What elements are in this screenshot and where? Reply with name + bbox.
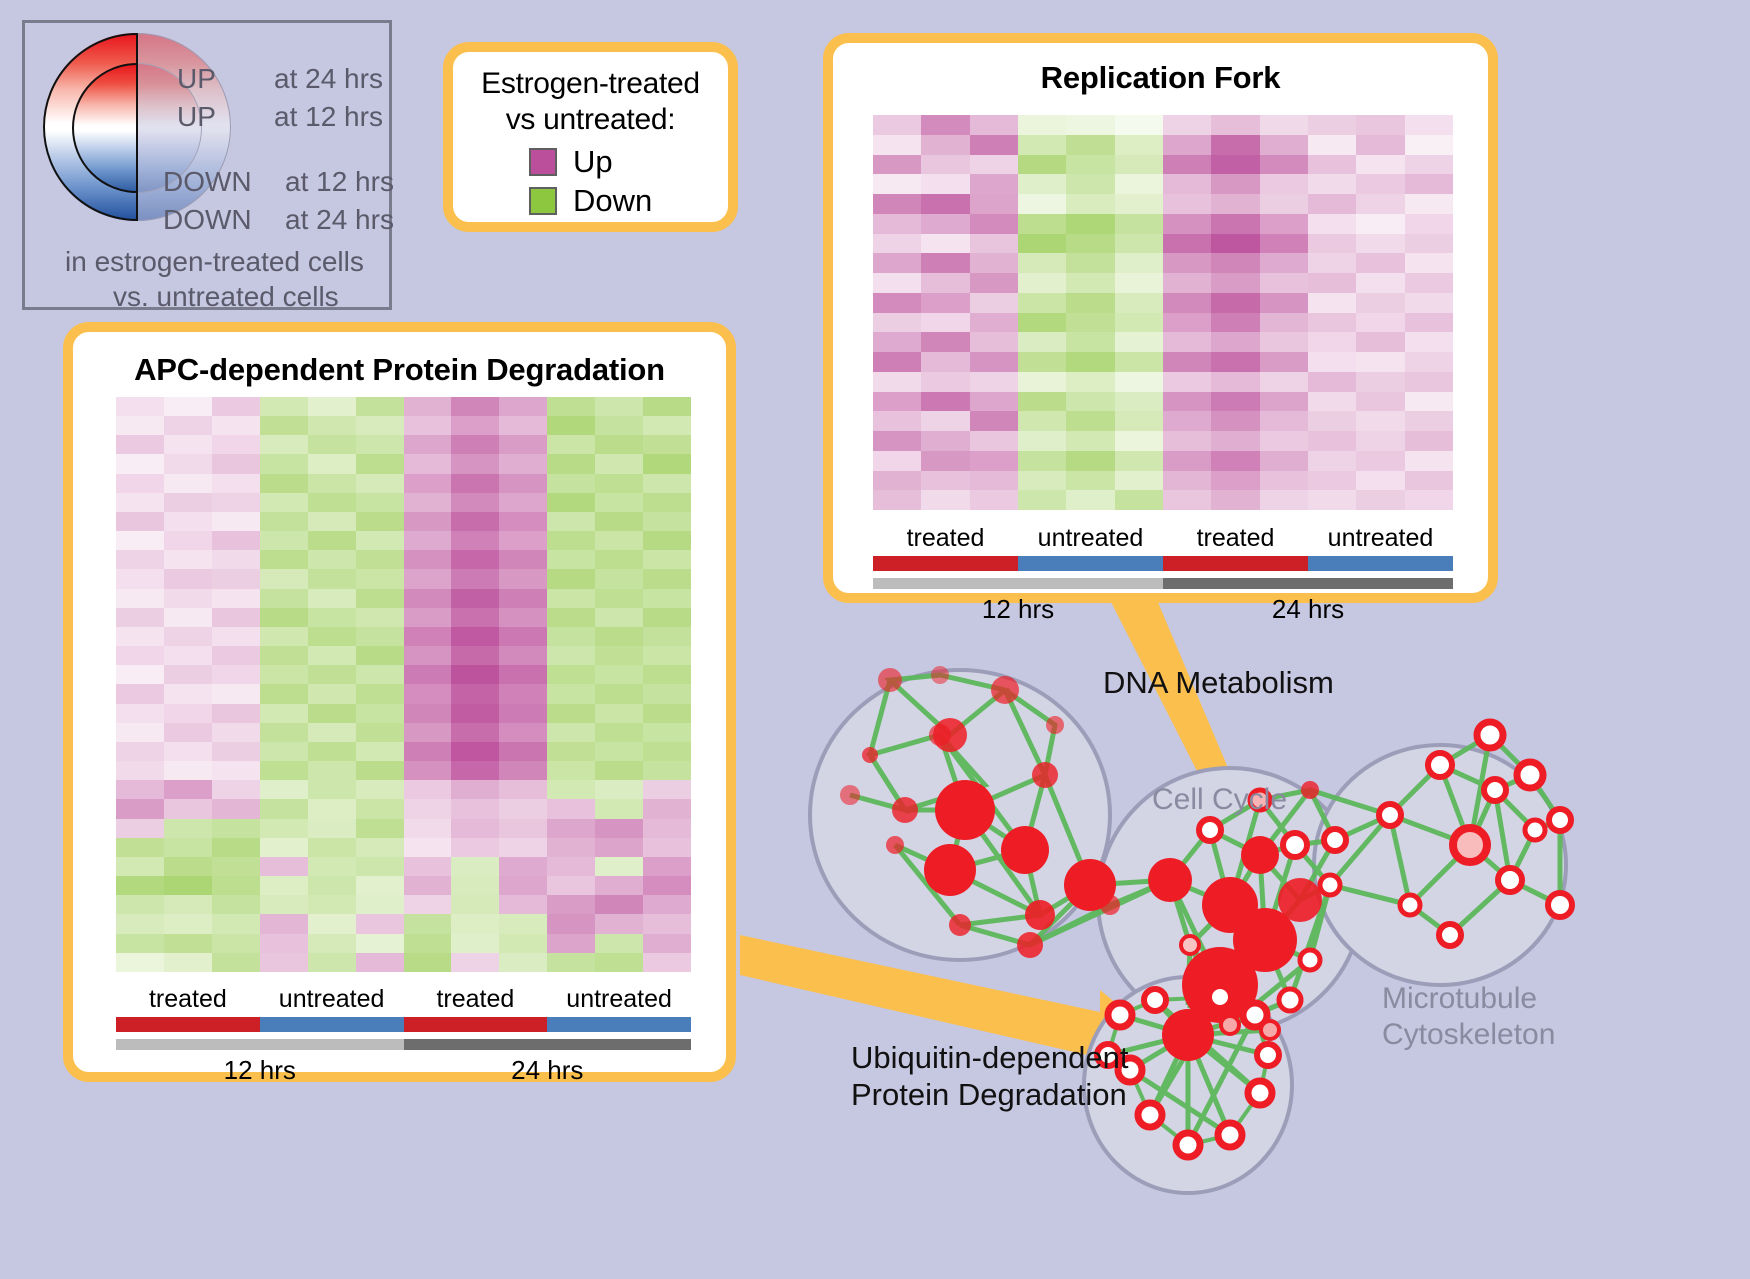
heatmap-cell [921, 332, 969, 352]
heatmap-cell [356, 838, 404, 857]
network-node [949, 914, 971, 936]
heatmap-cell [1260, 214, 1308, 234]
heatmap-cell [1260, 471, 1308, 491]
heatmap-cell [404, 742, 452, 761]
heatmap-cell [308, 416, 356, 435]
network-node [1324, 829, 1346, 851]
heatmap-cell [1163, 411, 1211, 431]
heatmap-cell [212, 627, 260, 646]
heatmap-cell [1308, 332, 1356, 352]
ring-time-down-24: at 24 hrs [285, 206, 394, 234]
heatmap-cell [1211, 234, 1259, 254]
heatmap-cell [260, 934, 308, 953]
heatmap-cell [643, 914, 691, 933]
heatmap-cell [547, 723, 595, 742]
network-node [1199, 819, 1221, 841]
ring-time-down-12: at 12 hrs [285, 168, 394, 196]
heatmap-cell [404, 493, 452, 512]
heatmap-cell [499, 857, 547, 876]
heatmap-cell [116, 665, 164, 684]
heatmap-cell [643, 876, 691, 895]
heatmap-cell [1115, 234, 1163, 254]
heatmap-cell [547, 608, 595, 627]
heatmap-cell [873, 174, 921, 194]
apc-degradation-title: APC-dependent Protein Degradation [73, 332, 726, 388]
heatmap-cell [1356, 332, 1404, 352]
heatmap-cell [404, 665, 452, 684]
network-node [1379, 804, 1401, 826]
network-node [931, 666, 949, 684]
heatmap-cell [970, 234, 1018, 254]
heatmap-cell [164, 493, 212, 512]
updown-legend-title: Estrogen-treated vs untreated: [453, 52, 728, 138]
heatmap-cell [873, 214, 921, 234]
heatmap-cell [356, 704, 404, 723]
heatmap-cell [499, 761, 547, 780]
heatmap-cell [404, 876, 452, 895]
heatmap-cell [643, 704, 691, 723]
heatmap-cell [595, 627, 643, 646]
heatmap-cell [404, 761, 452, 780]
legend-item-down: Down [529, 185, 728, 216]
heatmap-cell [595, 569, 643, 588]
heatmap-cell [1211, 115, 1259, 135]
heatmap-cell [547, 416, 595, 435]
heatmap-cell [1211, 253, 1259, 273]
heatmap-cell [164, 569, 212, 588]
heatmap-cell [970, 332, 1018, 352]
heatmap-cell [643, 838, 691, 857]
heatmap-cell [260, 493, 308, 512]
heatmap-cell [164, 914, 212, 933]
apc-condition-labels: treated untreated treated untreated [116, 984, 691, 1014]
heatmap-cell [1066, 352, 1114, 372]
heatmap-cell [643, 531, 691, 550]
heatmap-cell [921, 490, 969, 510]
heatmap-cell [356, 934, 404, 953]
heatmap-cell [643, 780, 691, 799]
condition-label: untreated [1308, 523, 1453, 553]
heatmap-cell [595, 934, 643, 953]
heatmap-cell [212, 512, 260, 531]
heatmap-cell [1405, 451, 1453, 471]
heatmap-cell [595, 780, 643, 799]
heatmap-cell [643, 684, 691, 703]
heatmap-cell [260, 569, 308, 588]
heatmap-cell [308, 914, 356, 933]
heatmap-cell [404, 953, 452, 972]
heatmap-cell [643, 934, 691, 953]
heatmap-cell [499, 550, 547, 569]
heatmap-cell [356, 589, 404, 608]
heatmap-cell [1356, 293, 1404, 313]
heatmap-cell [164, 608, 212, 627]
condition-label: treated [404, 984, 548, 1014]
up-color-swatch [529, 148, 557, 176]
heatmap-cell [595, 895, 643, 914]
heatmap-cell [499, 876, 547, 895]
network-node [1439, 924, 1461, 946]
heatmap-cell [499, 454, 547, 473]
heatmap-cell [1163, 174, 1211, 194]
heatmap-cell [547, 704, 595, 723]
heatmap-cell [1308, 352, 1356, 372]
heatmap-cell [1018, 411, 1066, 431]
cluster-label-protein-degradation: Protein Degradation [851, 1077, 1127, 1113]
heatmap-cell [260, 819, 308, 838]
heatmap-cell [1018, 293, 1066, 313]
apc-condition-bar [116, 1017, 691, 1032]
heatmap-cell [1163, 352, 1211, 372]
heatmap-cell [116, 512, 164, 531]
heatmap-cell [1260, 194, 1308, 214]
heatmap-cell [1260, 115, 1308, 135]
heatmap-cell [1115, 332, 1163, 352]
heatmap-cell [164, 819, 212, 838]
heatmap-cell [1066, 174, 1114, 194]
heatmap-cell [356, 416, 404, 435]
heatmap-cell [451, 589, 499, 608]
heatmap-cell [499, 914, 547, 933]
heatmap-cell [260, 876, 308, 895]
heatmap-cell [116, 723, 164, 742]
heatmap-cell [356, 474, 404, 493]
heatmap-cell [260, 665, 308, 684]
heatmap-cell [1211, 431, 1259, 451]
heatmap-cell [595, 493, 643, 512]
network-node [1301, 781, 1319, 799]
heatmap-cell [260, 608, 308, 627]
heatmap-cell [873, 115, 921, 135]
heatmap-cell [873, 293, 921, 313]
heatmap-cell [873, 234, 921, 254]
heatmap-cell [356, 799, 404, 818]
heatmap-cell [212, 914, 260, 933]
heatmap-cell [499, 895, 547, 914]
heatmap-cell [451, 493, 499, 512]
down-color-swatch [529, 187, 557, 215]
condition-bar-segment [404, 1017, 548, 1032]
heatmap-cell [212, 838, 260, 857]
heatmap-cell [1211, 135, 1259, 155]
heatmap-cell [643, 799, 691, 818]
heatmap-cell [164, 531, 212, 550]
heatmap-cell [404, 627, 452, 646]
network-node [1320, 875, 1340, 895]
heatmap-cell [1260, 273, 1308, 293]
heatmap-cell [921, 194, 969, 214]
network-node [1025, 900, 1055, 930]
heatmap-cell [1018, 214, 1066, 234]
heatmap-cell [547, 397, 595, 416]
heatmap-cell [921, 392, 969, 412]
heatmap-cell [451, 876, 499, 895]
heatmap-cell [451, 704, 499, 723]
heatmap-cell [921, 372, 969, 392]
heatmap-cell [1066, 471, 1114, 491]
heatmap-cell [547, 838, 595, 857]
heatmap-cell [547, 799, 595, 818]
condition-label: untreated [1018, 523, 1163, 553]
heatmap-cell [873, 352, 921, 372]
heatmap-cell [451, 857, 499, 876]
heatmap-cell [873, 253, 921, 273]
heatmap-cell [1115, 451, 1163, 471]
heatmap-cell [116, 531, 164, 550]
heatmap-cell [643, 665, 691, 684]
heatmap-cell [499, 838, 547, 857]
heatmap-cell [404, 646, 452, 665]
heatmap-cell [212, 761, 260, 780]
heatmap-cell [643, 512, 691, 531]
heatmap-cell [404, 435, 452, 454]
network-node [1484, 779, 1506, 801]
heatmap-cell [595, 723, 643, 742]
time-bar-segment [116, 1039, 404, 1050]
heatmap-cell [308, 684, 356, 703]
network-node [1453, 828, 1487, 862]
heatmap-cell [116, 914, 164, 933]
heatmap-cell [547, 512, 595, 531]
heatmap-cell [1018, 451, 1066, 471]
heatmap-cell [356, 895, 404, 914]
heatmap-cell [595, 799, 643, 818]
heatmap-cell [595, 857, 643, 876]
heatmap-cell [1260, 411, 1308, 431]
heatmap-cell [1211, 411, 1259, 431]
ring-label-down-12: DOWN [163, 168, 252, 196]
network-node [1032, 762, 1058, 788]
heatmap-cell [308, 819, 356, 838]
heatmap-cell [260, 550, 308, 569]
condition-label: treated [116, 984, 260, 1014]
condition-label: treated [1163, 523, 1308, 553]
heatmap-cell [260, 742, 308, 761]
heatmap-cell [164, 474, 212, 493]
updown-legend-card: Estrogen-treated vs untreated: Up Down [443, 42, 738, 232]
heatmap-cell [212, 493, 260, 512]
heatmap-cell [595, 704, 643, 723]
network-node [1477, 722, 1503, 748]
heatmap-cell [451, 627, 499, 646]
heatmap-cell [921, 293, 969, 313]
heatmap-cell [404, 397, 452, 416]
heatmap-cell [356, 742, 404, 761]
heatmap-cell [1405, 234, 1453, 254]
heatmap-cell [499, 646, 547, 665]
heatmap-cell [1260, 372, 1308, 392]
condition-bar-segment [1018, 556, 1163, 571]
heatmap-cell [595, 953, 643, 972]
heatmap-cell [116, 895, 164, 914]
heatmap-cell [547, 895, 595, 914]
heatmap-cell [212, 953, 260, 972]
heatmap-cell [1115, 135, 1163, 155]
heatmap-cell [873, 471, 921, 491]
heatmap-cell [1018, 115, 1066, 135]
heatmap-cell [308, 953, 356, 972]
heatmap-cell [356, 819, 404, 838]
heatmap-cell [1211, 155, 1259, 175]
heatmap-cell [164, 704, 212, 723]
heatmap-cell [643, 857, 691, 876]
heatmap-cell [356, 646, 404, 665]
heatmap-cell [404, 512, 452, 531]
heatmap-cell [1115, 273, 1163, 293]
updown-title-line-1: Estrogen-treated [453, 66, 728, 102]
cluster-label-cytoskeleton: Cytoskeleton [1382, 1018, 1555, 1052]
heatmap-cell [164, 742, 212, 761]
heatmap-cell [308, 934, 356, 953]
heatmap-cell [451, 819, 499, 838]
heatmap-cell [404, 550, 452, 569]
cluster-label-ubiquitin-dependent: Ubiquitin-dependent [851, 1040, 1129, 1076]
network-node [1209, 986, 1231, 1008]
heatmap-cell [547, 550, 595, 569]
heatmap-cell [1308, 174, 1356, 194]
heatmap-cell [116, 953, 164, 972]
heatmap-cell [164, 646, 212, 665]
heatmap-cell [499, 780, 547, 799]
heatmap-cell [643, 742, 691, 761]
heatmap-cell [1356, 313, 1404, 333]
network-node [1525, 820, 1545, 840]
heatmap-cell [1308, 411, 1356, 431]
heatmap-cell [595, 742, 643, 761]
heatmap-cell [1066, 214, 1114, 234]
apc-degradation-axis: treated untreated treated untreated 12 h… [116, 984, 691, 1086]
heatmap-cell [1018, 135, 1066, 155]
heatmap-cell [1018, 174, 1066, 194]
heatmap-cell [356, 512, 404, 531]
heatmap-cell [260, 838, 308, 857]
network-node [1261, 1021, 1279, 1039]
heatmap-cell [1211, 194, 1259, 214]
heatmap-cell [308, 550, 356, 569]
heatmap-cell [1405, 174, 1453, 194]
network-node [1148, 858, 1192, 902]
down-label: Down [573, 185, 652, 216]
heatmap-cell [1211, 451, 1259, 471]
heatmap-cell [1356, 431, 1404, 451]
heatmap-cell [1115, 115, 1163, 135]
heatmap-cell [356, 761, 404, 780]
heatmap-cell [499, 819, 547, 838]
heatmap-cell [451, 474, 499, 493]
heatmap-cell [308, 665, 356, 684]
heatmap-cell [1163, 490, 1211, 510]
heatmap-cell [260, 780, 308, 799]
heatmap-cell [1308, 490, 1356, 510]
heatmap-cell [451, 742, 499, 761]
heatmap-cell [212, 857, 260, 876]
heatmap-cell [356, 569, 404, 588]
heatmap-cell [1163, 273, 1211, 293]
heatmap-cell [873, 273, 921, 293]
heatmap-cell [1163, 431, 1211, 451]
heatmap-cell [1356, 490, 1404, 510]
heatmap-cell [164, 799, 212, 818]
heatmap-cell [921, 253, 969, 273]
condition-bar-segment [1308, 556, 1453, 571]
heatmap-cell [1308, 234, 1356, 254]
heatmap-cell [356, 914, 404, 933]
heatmap-cell [116, 838, 164, 857]
heatmap-cell [547, 435, 595, 454]
replication-fork-time-bar [873, 578, 1453, 589]
network-node [1108, 1003, 1132, 1027]
heatmap-cell [1115, 471, 1163, 491]
heatmap-cell [451, 799, 499, 818]
cluster-label-microtubule: Microtubule [1382, 982, 1537, 1016]
heatmap-cell [116, 416, 164, 435]
heatmap-cell [1066, 392, 1114, 412]
heatmap-cell [451, 953, 499, 972]
heatmap-cell [212, 723, 260, 742]
heatmap-cell [1405, 313, 1453, 333]
heatmap-cell [164, 416, 212, 435]
heatmap-cell [1308, 313, 1356, 333]
heatmap-cell [547, 665, 595, 684]
heatmap-cell [356, 493, 404, 512]
heatmap-cell [547, 474, 595, 493]
heatmap-cell [643, 953, 691, 972]
heatmap-cell [164, 895, 212, 914]
heatmap-cell [1260, 451, 1308, 471]
heatmap-cell [595, 608, 643, 627]
replication-fork-heatmap [873, 115, 1453, 510]
heatmap-cell [164, 723, 212, 742]
heatmap-cell [1163, 155, 1211, 175]
heatmap-cell [1260, 352, 1308, 372]
network-node [886, 836, 904, 854]
heatmap-cell [1308, 471, 1356, 491]
heatmap-cell [1356, 411, 1404, 431]
heatmap-cell [404, 838, 452, 857]
heatmap-cell [260, 684, 308, 703]
heatmap-cell [921, 135, 969, 155]
heatmap-cell [499, 627, 547, 646]
heatmap-cell [1260, 313, 1308, 333]
heatmap-cell [921, 115, 969, 135]
network-node [1176, 1133, 1200, 1157]
heatmap-cell [164, 857, 212, 876]
heatmap-cell [1163, 234, 1211, 254]
heatmap-cell [1018, 194, 1066, 214]
heatmap-cell [547, 684, 595, 703]
heatmap-cell [404, 857, 452, 876]
heatmap-cell [499, 435, 547, 454]
heatmap-cell [1115, 490, 1163, 510]
heatmap-cell [970, 411, 1018, 431]
heatmap-cell [308, 435, 356, 454]
heatmap-cell [212, 704, 260, 723]
heatmap-cell [499, 953, 547, 972]
heatmap-cell [1163, 253, 1211, 273]
heatmap-cell [451, 761, 499, 780]
heatmap-cell [1163, 194, 1211, 214]
heatmap-cell [1260, 490, 1308, 510]
heatmap-cell [1066, 431, 1114, 451]
heatmap-cell [1115, 214, 1163, 234]
heatmap-cell [1066, 293, 1114, 313]
heatmap-cell [499, 704, 547, 723]
heatmap-cell [1211, 313, 1259, 333]
network-node [1181, 936, 1199, 954]
heatmap-cell [212, 819, 260, 838]
heatmap-cell [1260, 253, 1308, 273]
time-bar-segment [1163, 578, 1453, 589]
